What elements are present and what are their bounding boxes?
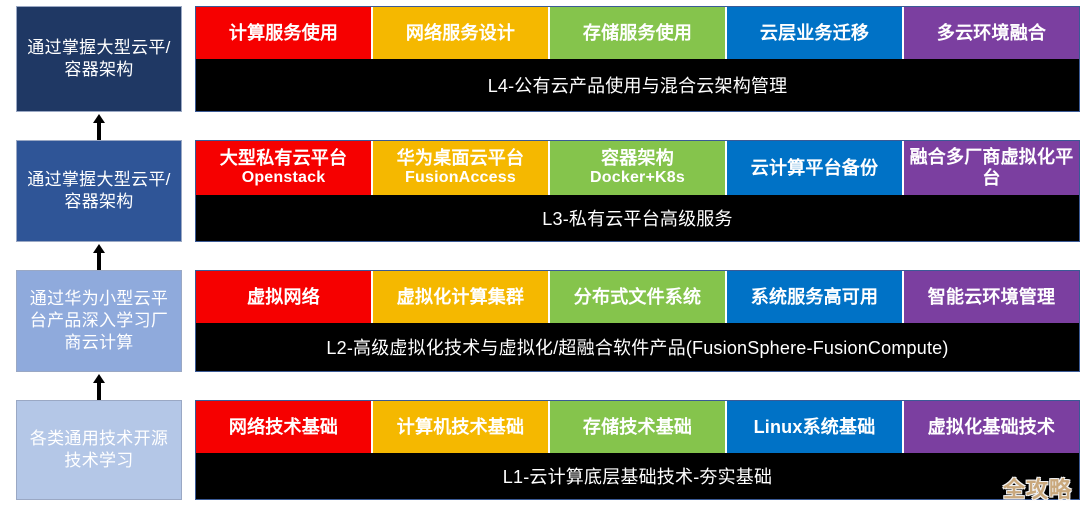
tile-title: 虚拟化计算集群 — [397, 287, 524, 308]
level-band-L4: L4-公有云产品使用与混合云架构管理 — [196, 59, 1079, 111]
tile-title: 网络技术基础 — [229, 417, 338, 438]
diagram-canvas: 通过掌握大型云平/容器架构 通过掌握大型云平/容器架构 通过华为小型云平台产品深… — [0, 0, 1080, 510]
tile-title: 智能云环境管理 — [928, 287, 1055, 308]
tile-title: 分布式文件系统 — [574, 287, 701, 308]
tile-L2-3[interactable]: 系统服务高可用 — [727, 271, 904, 323]
tile-title: 华为桌面云平台 — [397, 148, 524, 169]
tile-L2-0[interactable]: 虚拟网络 — [196, 271, 373, 323]
tile-title: 虚拟化基础技术 — [928, 417, 1055, 438]
rail-box-label: 通过华为小型云平台产品深入学习厂商云计算 — [23, 288, 175, 353]
tile-L1-4[interactable]: 虚拟化基础技术 — [904, 401, 1079, 453]
tile-L1-2[interactable]: 存储技术基础 — [550, 401, 727, 453]
level-tiles-L4: 计算服务使用 网络服务设计 存储服务使用 云层业务迁移 多云环境融合 — [196, 7, 1079, 59]
tile-L3-4[interactable]: 融合多厂商虚拟化平台 — [904, 141, 1079, 195]
tile-L4-1[interactable]: 网络服务设计 — [373, 7, 550, 59]
tile-L4-0[interactable]: 计算服务使用 — [196, 7, 373, 59]
tile-title: 计算机技术基础 — [397, 417, 524, 438]
tile-title: 存储服务使用 — [583, 23, 692, 44]
level-block-L1: 网络技术基础 计算机技术基础 存储技术基础 Linux系统基础 虚拟化基础技术 — [195, 400, 1080, 500]
level-block-L4: 计算服务使用 网络服务设计 存储服务使用 云层业务迁移 多云环境融合 — [195, 6, 1080, 112]
tile-title: 云层业务迁移 — [760, 23, 869, 44]
tile-L4-3[interactable]: 云层业务迁移 — [727, 7, 904, 59]
tile-L3-0[interactable]: 大型私有云平台 Openstack — [196, 141, 373, 195]
rail-box-label: 通过掌握大型云平/容器架构 — [23, 169, 175, 213]
level-block-L3: 大型私有云平台 Openstack 华为桌面云平台 FusionAccess 容… — [195, 140, 1080, 242]
up-arrow-icon-2 — [92, 374, 106, 400]
level-tiles-L2: 虚拟网络 虚拟化计算集群 分布式文件系统 系统服务高可用 智能云环境管理 — [196, 271, 1079, 323]
tile-L1-1[interactable]: 计算机技术基础 — [373, 401, 550, 453]
tile-title: 融合多厂商虚拟化平台 — [906, 147, 1077, 189]
level-tiles-L3: 大型私有云平台 Openstack 华为桌面云平台 FusionAccess 容… — [196, 141, 1079, 195]
tile-L1-3[interactable]: Linux系统基础 — [727, 401, 904, 453]
level-band-L2: L2-高级虚拟化技术与虚拟化/超融合软件产品(FusionSphere-Fusi… — [196, 323, 1079, 371]
level-tiles-L1: 网络技术基础 计算机技术基础 存储技术基础 Linux系统基础 虚拟化基础技术 — [196, 401, 1079, 453]
tile-L4-2[interactable]: 存储服务使用 — [550, 7, 727, 59]
tile-title: 计算服务使用 — [229, 23, 338, 44]
learning-path-rail: 通过掌握大型云平/容器架构 通过掌握大型云平/容器架构 通过华为小型云平台产品深… — [0, 0, 190, 510]
tile-L3-1[interactable]: 华为桌面云平台 FusionAccess — [373, 141, 550, 195]
level-band-L3: L3-私有云平台高级服务 — [196, 195, 1079, 241]
up-arrow-icon-0 — [92, 114, 106, 140]
level-stack: 计算服务使用 网络服务设计 存储服务使用 云层业务迁移 多云环境融合 — [195, 0, 1080, 510]
tile-title: 网络服务设计 — [406, 23, 515, 44]
tile-L2-4[interactable]: 智能云环境管理 — [904, 271, 1079, 323]
tile-title: 容器架构 — [601, 148, 674, 169]
level-band-L1: L1-云计算底层基础技术-夯实基础 — [196, 453, 1079, 499]
tile-title: Linux系统基础 — [754, 417, 876, 438]
rail-box-0: 通过掌握大型云平/容器架构 — [16, 6, 182, 112]
rail-box-label: 各类通用技术开源技术学习 — [23, 428, 175, 472]
tile-L4-4[interactable]: 多云环境融合 — [904, 7, 1079, 59]
tile-title: 大型私有云平台 — [220, 148, 347, 169]
tile-subtitle: Openstack — [242, 169, 326, 188]
rail-box-1: 通过掌握大型云平/容器架构 — [16, 140, 182, 242]
rail-box-3: 各类通用技术开源技术学习 — [16, 400, 182, 500]
tile-L3-2[interactable]: 容器架构 Docker+K8s — [550, 141, 727, 195]
tile-L2-1[interactable]: 虚拟化计算集群 — [373, 271, 550, 323]
tile-title: 云计算平台备份 — [751, 158, 878, 179]
up-arrow-icon-1 — [92, 244, 106, 270]
tile-title: 虚拟网络 — [247, 287, 320, 308]
tile-subtitle: Docker+K8s — [590, 169, 685, 188]
tile-L2-2[interactable]: 分布式文件系统 — [550, 271, 727, 323]
level-block-L2: 虚拟网络 虚拟化计算集群 分布式文件系统 系统服务高可用 智能云环境管理 — [195, 270, 1080, 372]
tile-title: 多云环境融合 — [937, 23, 1046, 44]
rail-box-2: 通过华为小型云平台产品深入学习厂商云计算 — [16, 270, 182, 372]
tile-L1-0[interactable]: 网络技术基础 — [196, 401, 373, 453]
tile-title: 存储技术基础 — [583, 417, 692, 438]
rail-box-label: 通过掌握大型云平/容器架构 — [23, 37, 175, 81]
tile-L3-3[interactable]: 云计算平台备份 — [727, 141, 904, 195]
tile-subtitle: FusionAccess — [405, 169, 516, 188]
tile-title: 系统服务高可用 — [751, 287, 878, 308]
